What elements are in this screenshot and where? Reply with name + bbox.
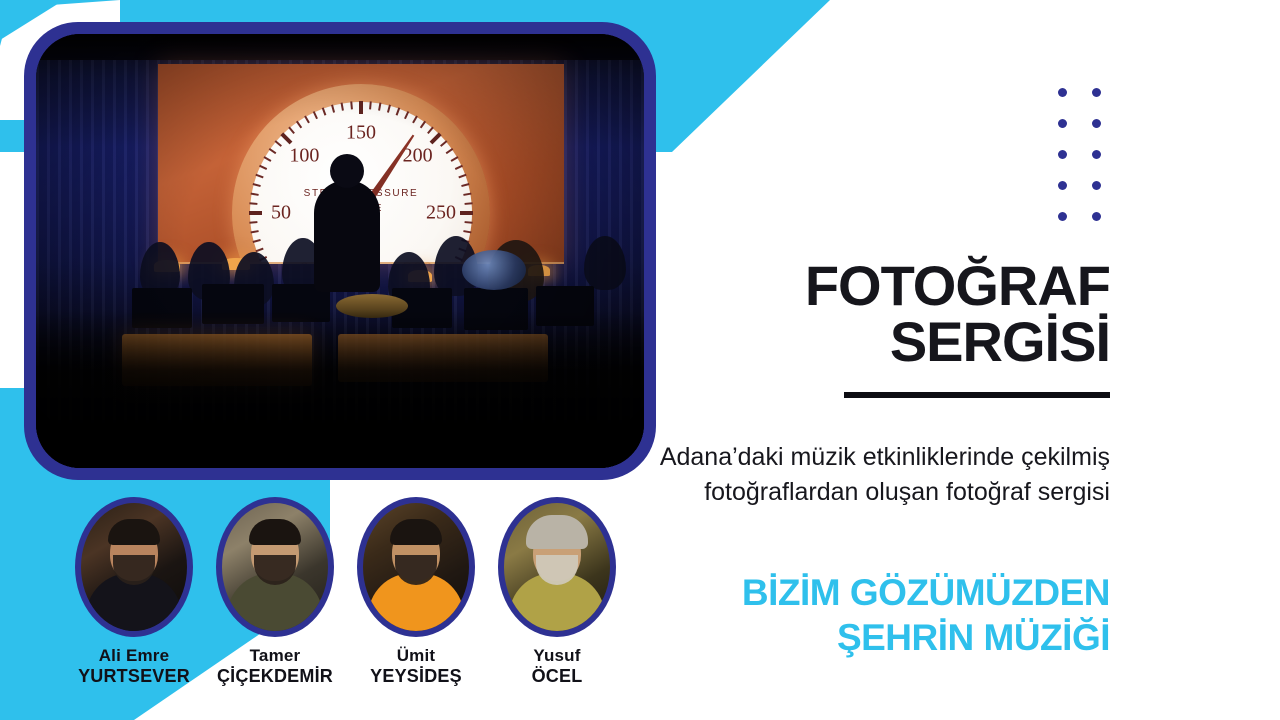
presenter-first-name: Tamer xyxy=(250,646,301,665)
presenters-row: Ali Emre YURTSEVER Tamer ÇİÇEKDEMİR Ümit… xyxy=(0,497,660,637)
page-title: FOTOĞRAF SERGİSİ xyxy=(690,258,1110,370)
presenter-first-name: Ümit xyxy=(397,646,436,665)
description-text: Adana’daki müzik etkinliklerinde çekilmi… xyxy=(650,440,1110,510)
avatar xyxy=(357,497,475,637)
title-line-1: FOTOĞRAF xyxy=(690,258,1110,314)
presenter-name: Yusuf ÖCEL xyxy=(472,645,642,687)
main-photo-image: 050100150200250300 STEAM PRESSURE GAUGE … xyxy=(36,34,644,468)
decorative-dot xyxy=(1092,150,1101,159)
presenter-first-name: Yusuf xyxy=(533,646,580,665)
decorative-dot xyxy=(1092,181,1101,190)
avatar-photo xyxy=(81,503,187,631)
presenter-first-name: Ali Emre xyxy=(99,646,170,665)
avatar xyxy=(75,497,193,637)
avatar-photo xyxy=(363,503,469,631)
avatar xyxy=(498,497,616,637)
tagline: BİZİM GÖZÜMÜZDEN ŞEHRİN MÜZİĞİ xyxy=(640,570,1110,660)
decorative-dot xyxy=(1092,88,1101,97)
avatar-photo xyxy=(504,503,610,631)
title-divider xyxy=(844,392,1110,398)
decorative-dot xyxy=(1058,212,1067,221)
avatar xyxy=(216,497,334,637)
poster-text-column: FOTOĞRAF SERGİSİ Adana’daki müzik etkinl… xyxy=(660,0,1280,720)
decorative-dot xyxy=(1058,150,1067,159)
decorative-dot xyxy=(1092,212,1101,221)
avatar-hair xyxy=(390,519,442,545)
avatar-photo xyxy=(222,503,328,631)
avatar-hair xyxy=(108,519,160,545)
poster-canvas: 050100150200250300 STEAM PRESSURE GAUGE … xyxy=(0,0,1280,720)
tagline-line-1: BİZİM GÖZÜMÜZDEN xyxy=(640,570,1110,615)
tagline-line-2: ŞEHRİN MÜZİĞİ xyxy=(640,615,1110,660)
dot-grid-decoration xyxy=(1058,88,1102,222)
photo-vignette xyxy=(36,34,644,468)
title-line-2: SERGİSİ xyxy=(690,314,1110,370)
avatar-hair xyxy=(526,515,588,549)
avatar-hair xyxy=(249,519,301,545)
presenter-last-name: ÖCEL xyxy=(472,666,642,687)
decorative-dot xyxy=(1058,119,1067,128)
decorative-dot xyxy=(1058,181,1067,190)
main-photo-card: 050100150200250300 STEAM PRESSURE GAUGE … xyxy=(24,22,656,480)
decorative-dot xyxy=(1058,88,1067,97)
decorative-dot xyxy=(1092,119,1101,128)
